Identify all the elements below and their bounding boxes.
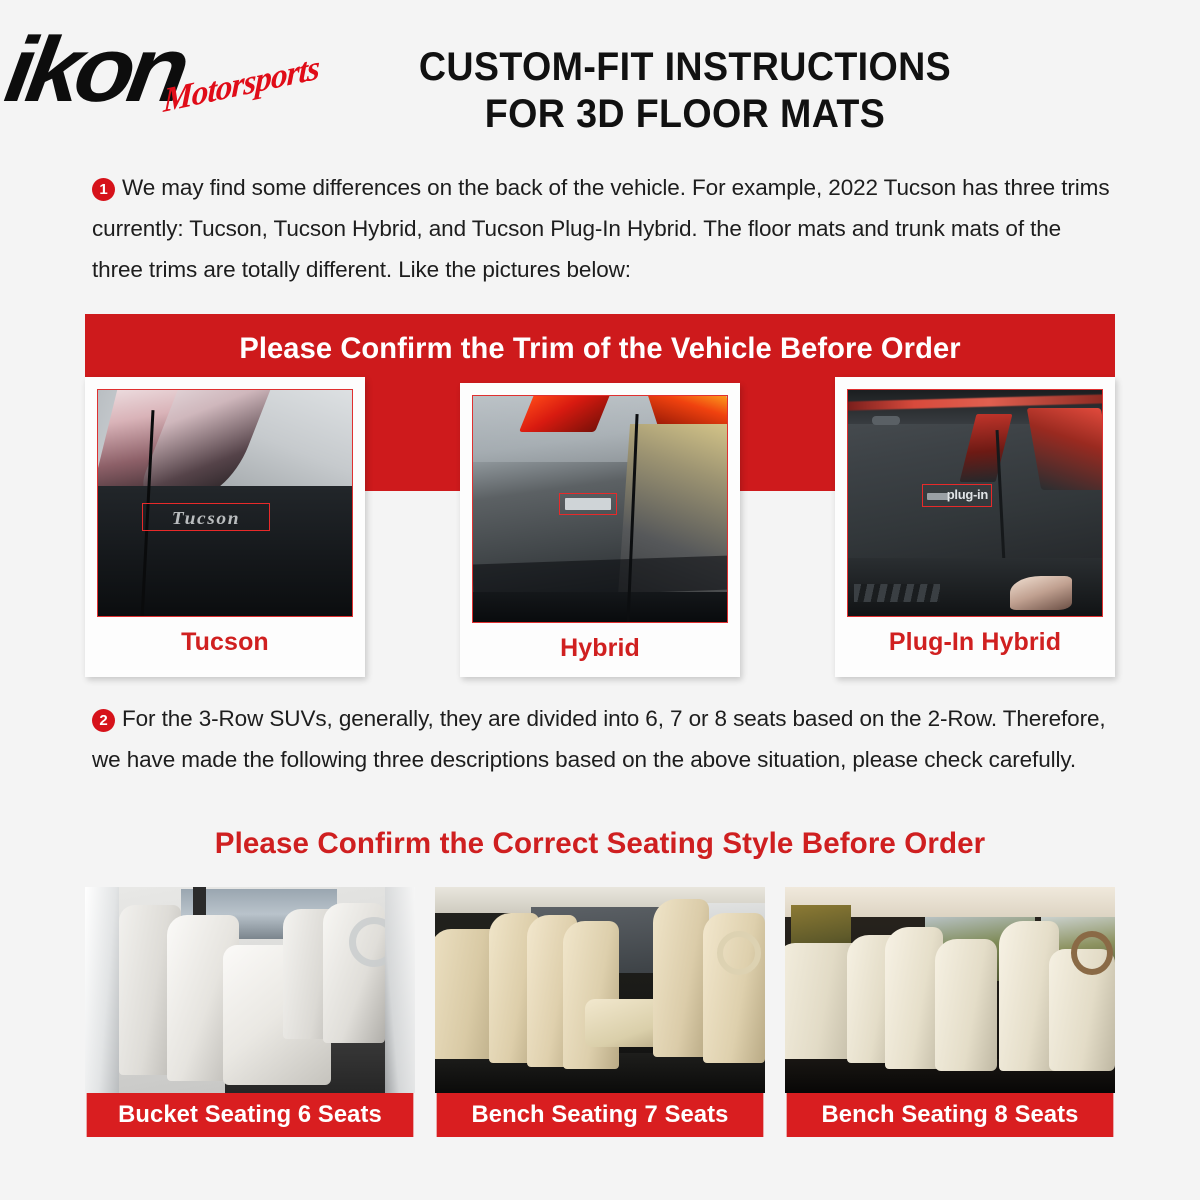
seating-card-bench-7[interactable]: Bench Seating 7 Seats [435,887,765,1137]
vehicle-badge-chip [565,498,611,510]
bumper-reflector [1010,576,1072,610]
trim-card-list: Tucson Tucson [85,377,1115,677]
trim-photo-hybrid [472,395,728,623]
trim-card-hybrid[interactable]: Hybrid [460,383,740,677]
step-2-text: For the 3-Row SUVs, generally, they are … [92,706,1106,772]
page-title-line-1: CUSTOM-FIT INSTRUCTIONS [361,44,1010,91]
rear-camera [872,416,900,425]
step-1-text: We may find some differences on the back… [92,175,1109,282]
steering-wheel [717,931,761,975]
vehicle-rear-image: plug-in [848,390,1102,616]
page-title: CUSTOM-FIT INSTRUCTIONS FOR 3D FLOOR MAT… [340,44,1030,138]
instruction-sheet: ikon Motorsports CUSTOM-FIT INSTRUCTIONS… [0,0,1200,1200]
taillight-inner [960,414,1013,482]
trim-photo-plugin-hybrid: plug-in [847,389,1103,617]
seating-section-heading: Please Confirm the Correct Seating Style… [9,827,1191,861]
seating-card-list: Bucket Seating 6 Seats Bench Seating 7 S… [85,887,1115,1137]
page-title-line-2: FOR 3D FLOOR MATS [361,91,1010,138]
step-1-bullet: 1 [92,178,115,201]
taillight-outer [1027,408,1103,490]
step-2-paragraph: 2For the 3-Row SUVs, generally, they are… [92,698,1110,780]
door-frame-right [385,887,415,1093]
trim-banner-title: Please Confirm the Trim of the Vehicle B… [100,332,1099,366]
seating-caption-bucket-6: Bucket Seating 6 Seats [87,1093,414,1137]
rear-bumper [473,592,728,622]
seating-photo-bucket-6 [85,887,415,1093]
trim-confirmation-section: Please Confirm the Trim of the Vehicle B… [85,314,1115,659]
trim-card-plugin-hybrid[interactable]: plug-in Plug-In Hybrid [835,377,1115,677]
brand-logo-script: Motorsports [163,49,320,121]
brand-logo-wordmark: ikon [0,26,189,114]
step-2-bullet: 2 [92,709,115,732]
trim-label-plugin-hybrid: Plug-In Hybrid [889,617,1061,671]
seat-front-passenger [653,899,709,1057]
trim-label-hybrid: Hybrid [560,623,640,677]
step-1-paragraph: 1We may find some differences on the bac… [92,167,1110,290]
seating-caption-bench-8: Bench Seating 8 Seats [787,1093,1114,1137]
seat-second-row-c [935,939,997,1071]
vehicle-rear-image: Tucson [98,390,352,616]
seating-photo-bench-7 [435,887,765,1093]
trim-card-tucson[interactable]: Tucson Tucson [85,377,365,677]
seating-card-bench-8[interactable]: Bench Seating 8 Seats [785,887,1115,1137]
page-header: ikon Motorsports CUSTOM-FIT INSTRUCTIONS… [0,0,1200,148]
vehicle-badge-text: Tucson [146,508,267,529]
seating-photo-bench-8 [785,887,1115,1093]
brand-logo: ikon Motorsports [14,26,344,136]
trim-label-tucson: Tucson [181,617,269,671]
vehicle-rear-image [473,396,727,622]
seating-caption-bench-7: Bench Seating 7 Seats [437,1093,764,1137]
door-frame-left [85,887,119,1093]
steering-wheel [1071,931,1113,975]
trim-photo-tucson: Tucson [97,389,353,617]
seating-card-bucket-6[interactable]: Bucket Seating 6 Seats [85,887,415,1137]
vehicle-badge-text: plug-in [926,487,988,502]
bumper-vent [854,584,940,602]
